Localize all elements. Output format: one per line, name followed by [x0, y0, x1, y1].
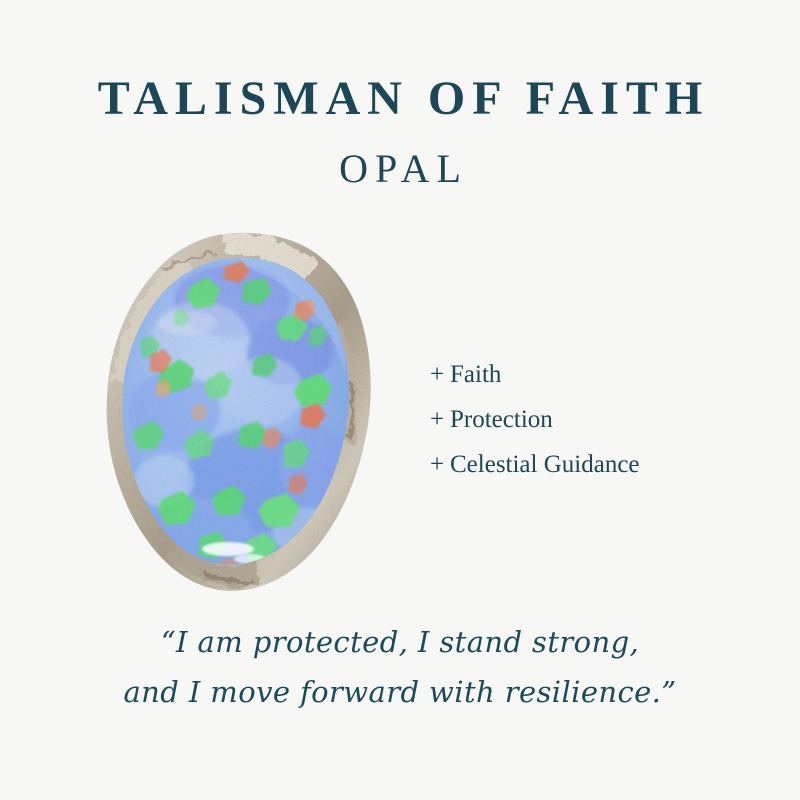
list-item: +Celestial Guidance [430, 442, 640, 487]
plus-icon: + [430, 397, 450, 442]
benefits-list: +Faith +Protection +Celestial Guidance [430, 352, 640, 487]
talisman-card: TALISMAN OF FAITH OPAL [0, 0, 800, 800]
benefit-label: Celestial Guidance [450, 451, 640, 478]
gem-name-subtitle: OPAL [0, 124, 800, 190]
quote-line-2: and I move forward with resilience.” [0, 667, 800, 717]
list-item: +Protection [430, 397, 640, 442]
header: TALISMAN OF FAITH OPAL [0, 74, 800, 190]
quote-line-1: “I am protected, I stand strong, [0, 617, 800, 667]
plus-icon: + [430, 442, 450, 487]
list-item: +Faith [430, 352, 640, 397]
plus-icon: + [430, 352, 450, 397]
opal-image [104, 231, 374, 593]
benefit-label: Protection [450, 406, 553, 433]
affirmation-quote: “I am protected, I stand strong, and I m… [0, 617, 800, 717]
benefit-label: Faith [450, 361, 501, 388]
opal-illustration [104, 231, 374, 593]
page-title: TALISMAN OF FAITH [0, 74, 800, 124]
